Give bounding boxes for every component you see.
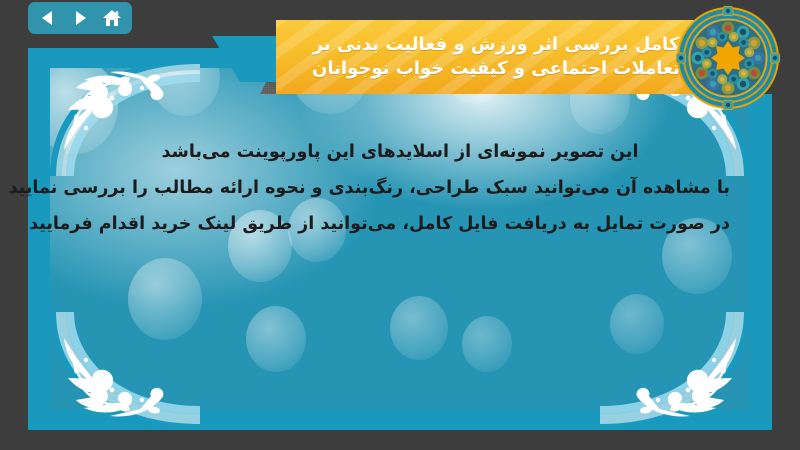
forward-button[interactable] [67,6,93,30]
panel-highlight [50,68,750,410]
bokeh-circle [462,316,512,372]
body-line-2: با مشاهده آن می‌توانید سبک طراحی، رنگ‌بن… [70,176,730,202]
forward-arrow-icon [71,9,89,27]
bokeh-circle [246,306,306,372]
slide-title-banner: کامل بررسی اثر ورزش و فعالیت بدنی بر تعا… [276,20,716,94]
body-line-3: در صورت تمایل به دریافت فایل کامل، می‌تو… [70,212,730,238]
slide-canvas: این تصویر نمونه‌ای از اسلایدهای این پاور… [0,0,800,450]
bokeh-circle [610,294,664,354]
home-button[interactable] [99,6,125,30]
title-line-2: تعاملات اجتماعی و کیفیت خواب نوجوانان [312,57,680,81]
bokeh-circle [390,296,448,360]
slide-content-panel [50,68,750,410]
back-arrow-icon [39,9,57,27]
banner-connector-wedge [212,36,284,82]
back-button[interactable] [35,6,61,30]
slide-navigation-bar[interactable] [28,2,132,34]
bokeh-circle [128,258,202,340]
slide-body-text: این تصویر نمونه‌ای از اسلایدهای این پاور… [70,140,730,238]
title-line-1: کامل بررسی اثر ورزش و فعالیت بدنی بر [313,33,680,57]
body-line-1: این تصویر نمونه‌ای از اسلایدهای این پاور… [70,140,730,166]
islamic-medallion-ornament [676,6,780,110]
home-icon [102,9,122,27]
